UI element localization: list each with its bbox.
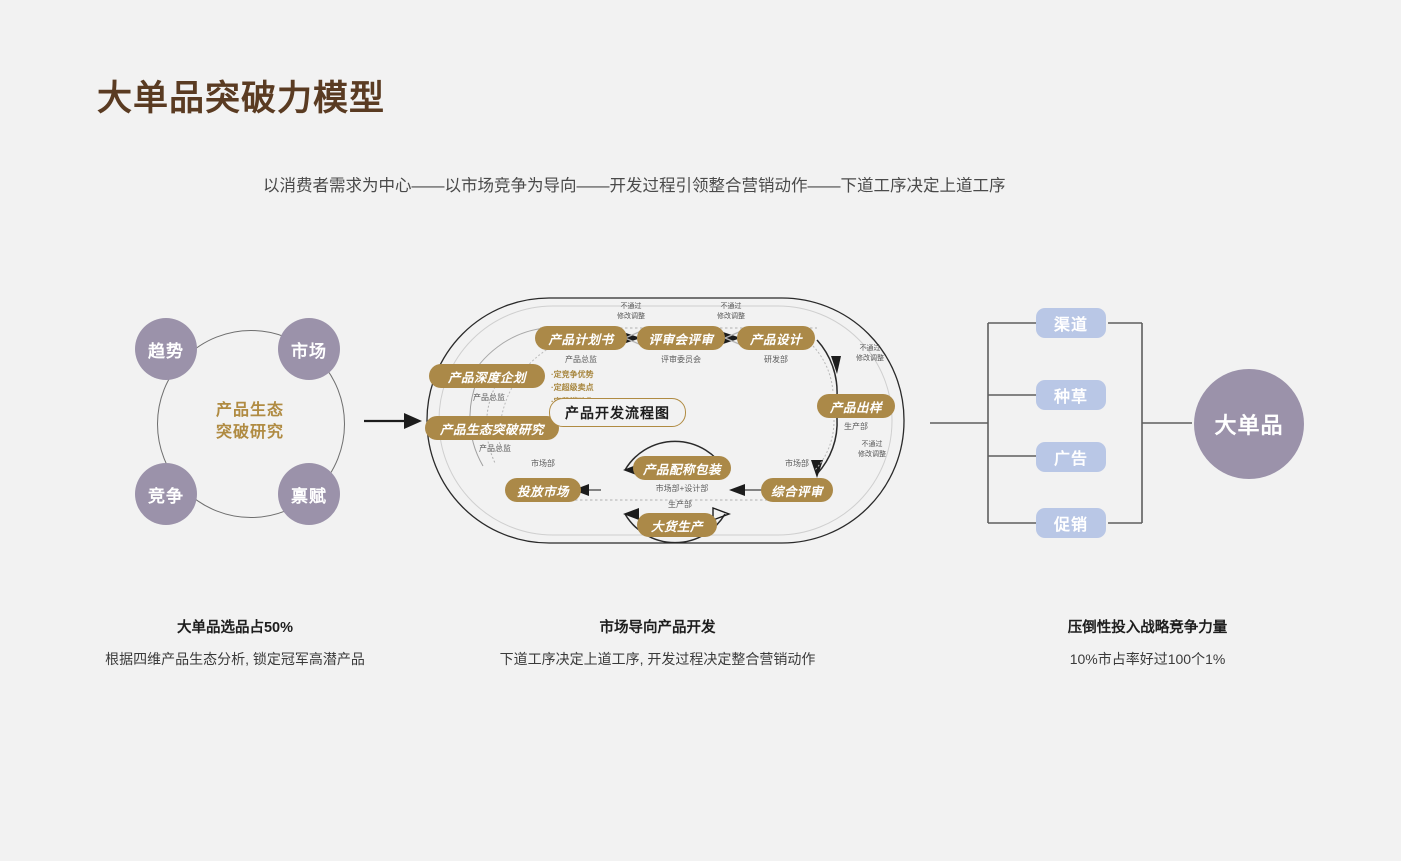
marketing-pill-channel[interactable]: 渠道 <box>1036 308 1106 338</box>
caption-heading: 市场导向产品开发 <box>430 616 885 637</box>
arrow-left-to-flow <box>364 405 426 437</box>
ecology-node-label: 禀赋 <box>291 482 327 507</box>
marketing-pill-promotion[interactable]: 促销 <box>1036 508 1106 538</box>
marketing-pill-label: 促销 <box>1054 511 1088 535</box>
flow-step-label: 投放市场 <box>517 481 569 500</box>
caption-detail: 下道工序决定上道工序, 开发过程决定整合营销动作 <box>430 649 885 669</box>
reject-label-4: 不通过 修改调整 <box>843 440 901 460</box>
product-development-flow: 产品深度企划 产品总监 产品生态突破研究 产品总监 产品计划书 产品总监 ·定竞… <box>425 288 907 553</box>
ecology-center-text: 产品生态 突破研究 <box>170 400 330 443</box>
reject-line2: 修改调整 <box>701 312 761 322</box>
reject-line1: 不通过 <box>843 440 901 450</box>
reject-line2: 修改调整 <box>843 450 901 460</box>
flow-step-dept: 产品总监 <box>455 443 535 454</box>
ecology-node-label: 市场 <box>291 337 327 362</box>
outcome-circle-label: 大单品 <box>1214 408 1283 440</box>
page-title: 大单品突破力模型 <box>97 70 385 121</box>
caption-heading: 大单品选品占50% <box>0 616 470 637</box>
caption-detail: 根据四维产品生态分析, 锁定冠军高潜产品 <box>0 649 470 669</box>
marketing-pill-label: 广告 <box>1054 445 1088 469</box>
ecology-center-line2: 突破研究 <box>170 422 330 444</box>
flow-step-dept: 产品总监 <box>541 354 621 365</box>
caption-detail: 10%市占率好过100个1% <box>960 649 1335 669</box>
flow-step-dept: 市场部+设计部 <box>636 483 728 494</box>
flow-step-label: 产品深度企划 <box>448 367 526 386</box>
reject-line2: 修改调整 <box>601 312 661 322</box>
ecology-node-label: 趋势 <box>148 337 184 362</box>
caption-left: 大单品选品占50% 根据四维产品生态分析, 锁定冠军高潜产品 <box>0 616 470 669</box>
flow-step-mass-production[interactable]: 大货生产 <box>637 513 717 537</box>
flow-step-dept: 生产部 <box>640 499 720 510</box>
caption-middle: 市场导向产品开发 下道工序决定上道工序, 开发过程决定整合营销动作 <box>430 616 885 669</box>
flow-step-label: 产品出样 <box>830 397 882 416</box>
flow-step-label: 产品计划书 <box>548 329 613 348</box>
marketing-investment-cluster: 渠道 种草 广告 促销 大单品 <box>930 290 1310 560</box>
flow-step-label: 综合评审 <box>771 481 823 500</box>
flow-step-market-launch[interactable]: 投放市场 <box>505 478 581 502</box>
flow-step-packaging[interactable]: 产品配称包装 <box>633 456 731 480</box>
reject-line1: 不通过 <box>841 344 899 354</box>
flow-center-title: 产品开发流程图 <box>549 398 686 427</box>
flow-step-dept: 市场部 <box>503 458 583 469</box>
page-subtitle: 以消费者需求为中心——以市场竞争为导向——开发过程引领整合营销动作——下道工序决… <box>263 172 1006 196</box>
flow-step-dept: 产品总监 <box>449 392 529 403</box>
marketing-pill-label: 种草 <box>1054 383 1088 407</box>
flow-step-dept: 生产部 <box>816 421 896 432</box>
flow-step-product-plan[interactable]: 产品计划书 <box>535 326 627 350</box>
flow-step-dept: 评审委员会 <box>641 354 721 365</box>
flow-step-dept: 研发部 <box>736 354 816 365</box>
slide-root: 大单品突破力模型 以消费者需求为中心——以市场竞争为导向——开发过程引领整合营销… <box>0 0 1401 861</box>
marketing-pill-advertising[interactable]: 广告 <box>1036 442 1106 472</box>
reject-label-3: 不通过 修改调整 <box>841 344 899 364</box>
marketing-pill-seeding[interactable]: 种草 <box>1036 380 1106 410</box>
caption-heading: 压倒性投入战略竞争力量 <box>960 616 1335 637</box>
product-ecology-cluster: 趋势 市场 竞争 禀赋 产品生态 突破研究 <box>135 310 350 535</box>
caption-right: 压倒性投入战略竞争力量 10%市占率好过100个1% <box>960 616 1335 669</box>
ecology-node-label: 竞争 <box>148 482 184 507</box>
ecology-node-endowment[interactable]: 禀赋 <box>278 463 340 525</box>
flow-step-product-design[interactable]: 产品设计 <box>737 326 815 350</box>
flow-step-sample-output[interactable]: 产品出样 <box>817 394 895 418</box>
flow-step-label: 产品设计 <box>750 329 802 348</box>
ecology-node-market[interactable]: 市场 <box>278 318 340 380</box>
flow-step-deep-planning[interactable]: 产品深度企划 <box>429 364 545 388</box>
flow-step-dept: 市场部 <box>757 458 837 469</box>
flow-step-label: 产品生态突破研究 <box>440 419 544 438</box>
ecology-center-line1: 产品生态 <box>170 400 330 422</box>
reject-line1: 不通过 <box>601 302 661 312</box>
reject-label-1: 不通过 修改调整 <box>601 302 661 322</box>
marketing-pill-label: 渠道 <box>1054 311 1088 335</box>
flow-step-comprehensive-review[interactable]: 综合评审 <box>761 478 833 502</box>
flow-step-label: 大货生产 <box>651 516 703 535</box>
reject-label-2: 不通过 修改调整 <box>701 302 761 322</box>
flow-step-review-meeting[interactable]: 评审会评审 <box>637 326 725 350</box>
flow-plan-bullet: ·定超级卖点 <box>551 381 594 394</box>
reject-line1: 不通过 <box>701 302 761 312</box>
ecology-node-trend[interactable]: 趋势 <box>135 318 197 380</box>
ecology-node-competition[interactable]: 竞争 <box>135 463 197 525</box>
reject-line2: 修改调整 <box>841 354 899 364</box>
flow-step-label: 产品配称包装 <box>643 459 721 478</box>
flow-step-ecology-research[interactable]: 产品生态突破研究 <box>425 416 559 440</box>
outcome-circle-big-product[interactable]: 大单品 <box>1194 369 1304 479</box>
flow-step-label: 评审会评审 <box>648 329 713 348</box>
flow-plan-bullet: ·定竞争优势 <box>551 368 594 381</box>
